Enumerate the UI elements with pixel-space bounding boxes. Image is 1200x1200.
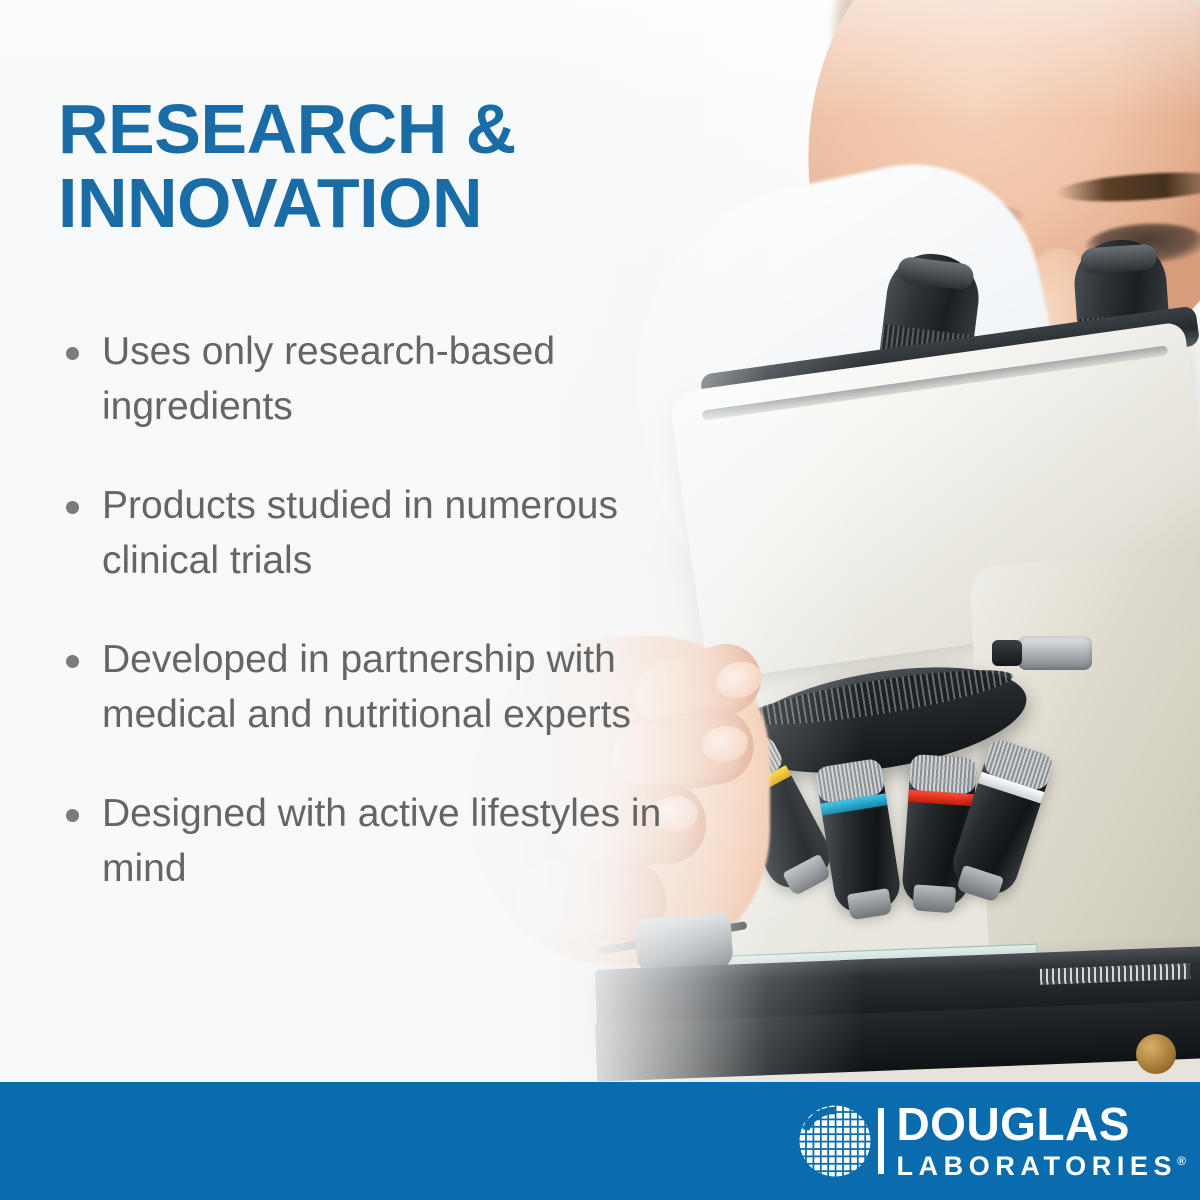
bullet-text: Products studied in numerous clinical tr… xyxy=(102,484,618,582)
list-item: Products studied in numerous clinical tr… xyxy=(58,478,678,588)
bullet-dot-icon xyxy=(66,655,79,668)
list-item: Uses only research-based ingredients xyxy=(58,324,678,434)
bullet-dot-icon xyxy=(66,501,79,514)
microscope-focus-knob-icon xyxy=(1018,636,1092,670)
list-item: Designed with active lifestyles in mind xyxy=(58,786,678,896)
brand-name-primary: DOUGLAS xyxy=(896,1102,1186,1146)
bullet-dot-icon xyxy=(66,347,79,360)
list-item: Developed in partnership with medical an… xyxy=(58,632,678,742)
bullet-text: Uses only research-based ingredients xyxy=(102,330,555,428)
stage-control-knob xyxy=(1136,1034,1176,1074)
brand-name-secondary: LABORATORIES® xyxy=(896,1146,1186,1181)
brand-footer-bar: DOUGLAS LABORATORIES® xyxy=(0,1082,1200,1200)
page-title: RESEARCH &INNOVATION xyxy=(58,92,658,240)
bullet-text: Developed in partnership with medical an… xyxy=(102,638,631,736)
brand-wordmark: DOUGLAS LABORATORIES® xyxy=(896,1102,1186,1181)
eyepiece-rim xyxy=(1080,243,1158,274)
headline-line-1: RESEARCH & xyxy=(58,90,516,168)
marketing-graphic: RESEARCH &INNOVATION Uses only research-… xyxy=(0,0,1200,1200)
brand-secondary-text: LABORATORIES xyxy=(896,1151,1177,1181)
douglas-grid-circle-logo-icon xyxy=(798,1104,872,1178)
objective-tip xyxy=(912,884,956,913)
headline-line-2: INNOVATION xyxy=(58,164,482,242)
registered-trademark-icon: ® xyxy=(1177,1154,1186,1168)
brand-divider xyxy=(878,1108,884,1174)
brand-lockup: DOUGLAS LABORATORIES® xyxy=(798,1092,1186,1190)
bullet-text: Designed with active lifestyles in mind xyxy=(102,792,661,890)
objective-collar xyxy=(909,754,977,795)
bullet-dot-icon xyxy=(66,809,79,822)
feature-bullet-list: Uses only research-based ingredients Pro… xyxy=(58,324,678,896)
